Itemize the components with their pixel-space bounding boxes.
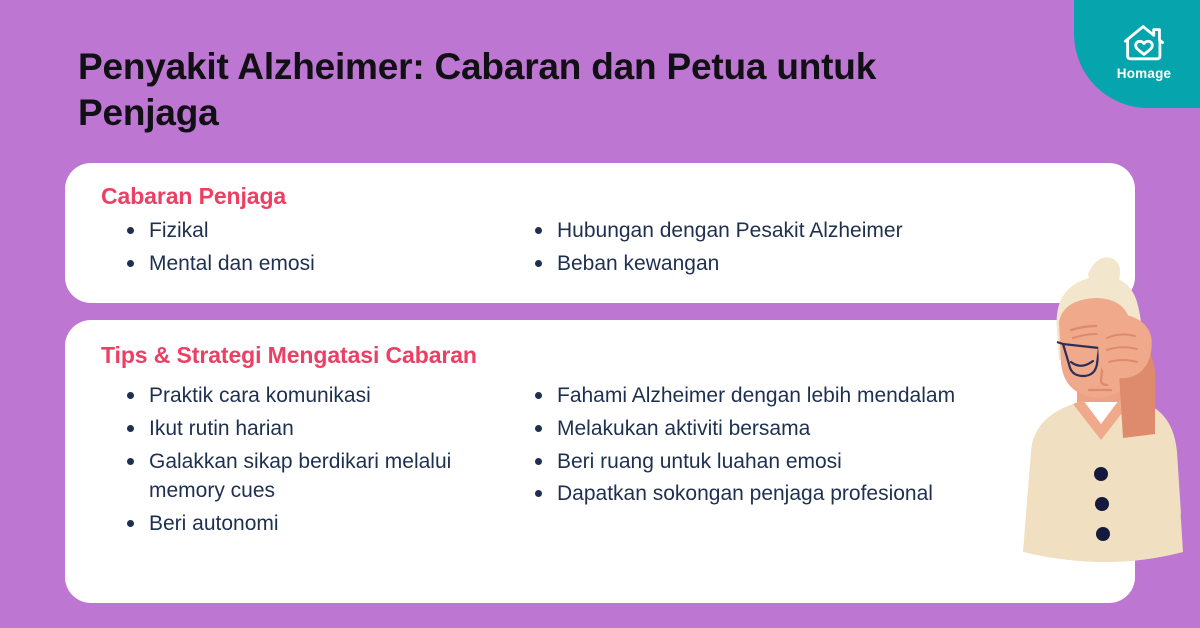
page-title: Penyakit Alzheimer: Cabaran dan Petua un… [78,44,908,136]
list-item: Dapatkan sokongan penjaga profesional [533,479,1135,509]
card-columns: Fizikal Mental dan emosi Hubungan dengan… [65,210,1135,282]
homage-logo-badge[interactable]: Homage [1074,0,1200,108]
list-item: Galakkan sikap berdikari melalui memory … [125,447,515,507]
list-item: Mental dan emosi [125,249,515,279]
card-cabaran-penjaga: Cabaran Penjaga Fizikal Mental dan emosi… [65,163,1135,303]
column-left: Praktik cara komunikasi Ikut rutin haria… [65,381,515,542]
brand-name: Homage [1117,66,1171,81]
list-item: Melakukan aktiviti bersama [533,414,1135,444]
list-item: Praktik cara komunikasi [125,381,515,411]
bullet-list-right: Fahami Alzheimer dengan lebih mendalam M… [533,381,1135,509]
list-item: Beri ruang untuk luahan emosi [533,447,1135,477]
bullet-list-left: Praktik cara komunikasi Ikut rutin haria… [125,381,515,539]
card-columns: Praktik cara komunikasi Ikut rutin haria… [65,369,1135,542]
card-heading: Cabaran Penjaga [65,163,1135,210]
column-right: Hubungan dengan Pesakit Alzheimer Beban … [515,216,1135,282]
card-tips-strategi: Tips & Strategi Mengatasi Cabaran Prakti… [65,320,1135,603]
list-item: Ikut rutin harian [125,414,515,444]
list-item: Beri autonomi [125,509,515,539]
list-item: Hubungan dengan Pesakit Alzheimer [533,216,1135,246]
bullet-list-left: Fizikal Mental dan emosi [125,216,515,279]
card-heading: Tips & Strategi Mengatasi Cabaran [65,320,1135,369]
list-item: Fahami Alzheimer dengan lebih mendalam [533,381,1135,411]
house-heart-icon [1121,23,1167,63]
list-item: Beban kewangan [533,249,1135,279]
column-right: Fahami Alzheimer dengan lebih mendalam M… [515,381,1135,542]
list-item: Fizikal [125,216,515,246]
bullet-list-right: Hubungan dengan Pesakit Alzheimer Beban … [533,216,1135,279]
column-left: Fizikal Mental dan emosi [65,216,515,282]
